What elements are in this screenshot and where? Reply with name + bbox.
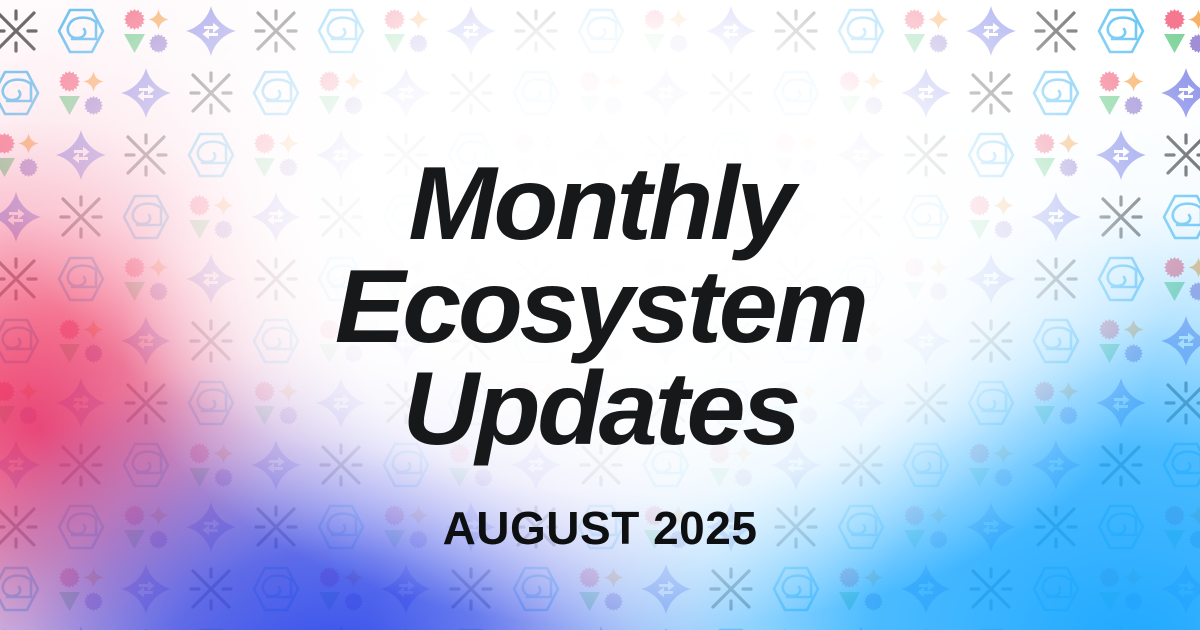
text-block: Monthly Ecosystem Updates AUGUST 2025 (0, 0, 1200, 630)
banner-card: Monthly Ecosystem Updates AUGUST 2025 (0, 0, 1200, 630)
headline-line-1: Monthly (335, 153, 866, 256)
subtitle-date: AUGUST 2025 (443, 501, 758, 555)
page-title: Monthly Ecosystem Updates (335, 153, 866, 462)
headline-line-2: Ecosystem (335, 256, 866, 359)
headline-line-3: Updates (335, 358, 866, 461)
